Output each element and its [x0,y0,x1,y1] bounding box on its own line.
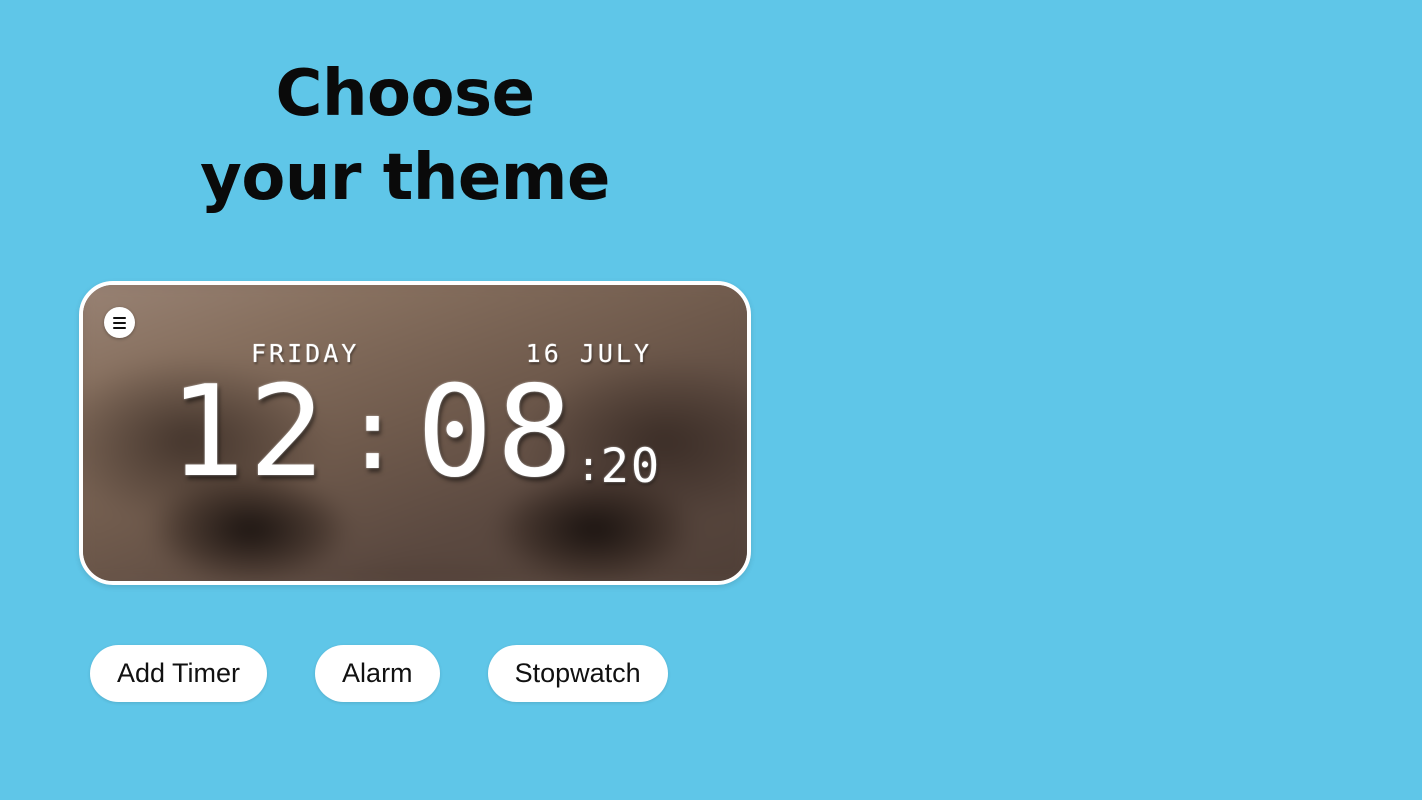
alarm-button[interactable]: Alarm [315,645,440,702]
headline-line-2: your theme [0,136,810,220]
hamburger-line [113,322,126,324]
headline-line-1: Choose [0,52,810,136]
stopwatch-button[interactable]: Stopwatch [488,645,668,702]
preview-hours: 12 [169,369,329,495]
preview-seconds: 20 [601,443,662,493]
hamburger-icon[interactable] [104,307,135,338]
hamburger-line [113,327,126,329]
preview-colon: : [329,369,417,492]
right-panel: Back Alarm 07 : 30 AM Start Dismis Back … [800,0,1422,800]
add-timer-button[interactable]: Add Timer [90,645,267,702]
preview-seconds-colon: : [576,447,600,493]
action-pill-row: Add Timer Alarm Stopwatch [90,645,668,702]
preview-seconds-group: : 20 [576,369,661,497]
hamburger-line [113,317,126,319]
preview-minutes: 08 [417,369,577,495]
theme-preview-card[interactable]: FRIDAY 16 JULY 12 : 08 : 20 [79,281,751,585]
left-panel: Choose your theme FRIDAY 16 JULY 12 : 08… [0,0,800,800]
preview-card-content: FRIDAY 16 JULY 12 : 08 : 20 [83,285,747,581]
preview-time-row: 12 : 08 : 20 [83,369,747,497]
page-title: Choose your theme [0,52,810,221]
